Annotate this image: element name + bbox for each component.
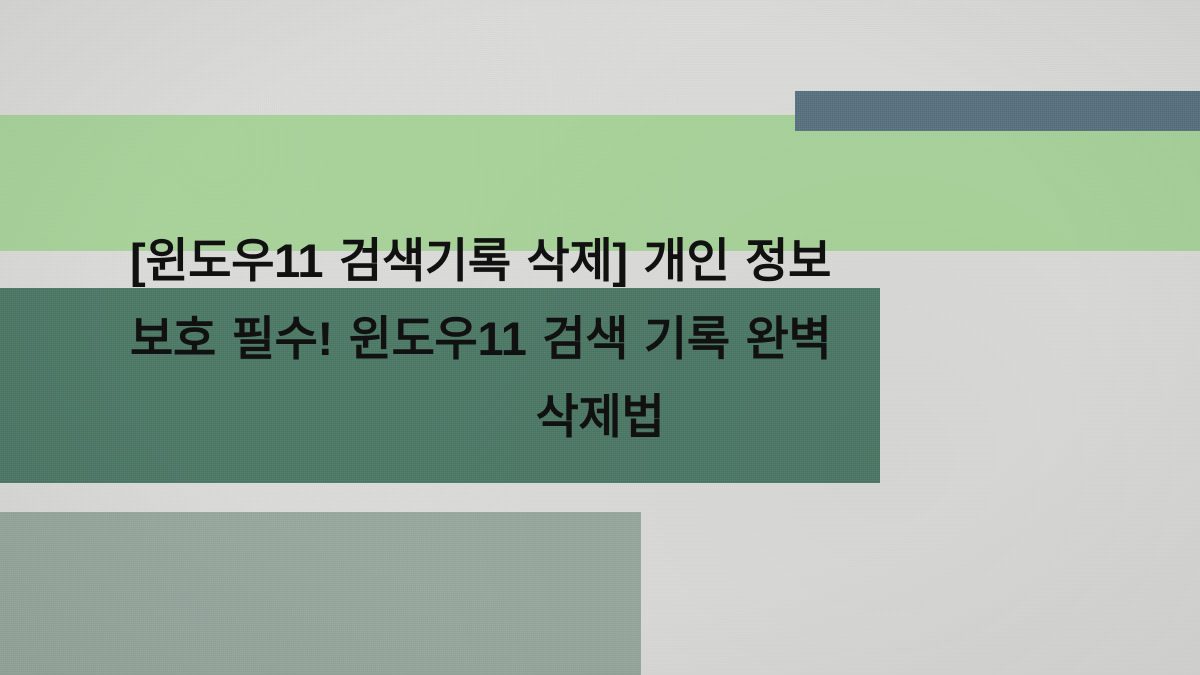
title-line-3: 삭제법 <box>130 378 1070 456</box>
title-line-2: 보호 필수! 윈도우11 검색 기록 완벽 <box>130 300 1070 378</box>
sage-gray-block <box>0 512 641 675</box>
page-title: [윈도우11 검색기록 삭제] 개인 정보 보호 필수! 윈도우11 검색 기록… <box>130 222 1070 456</box>
title-line-1: [윈도우11 검색기록 삭제] 개인 정보 <box>130 222 1070 300</box>
slate-blue-bar <box>795 91 1200 131</box>
thumbnail-canvas: [윈도우11 검색기록 삭제] 개인 정보 보호 필수! 윈도우11 검색 기록… <box>0 0 1200 675</box>
